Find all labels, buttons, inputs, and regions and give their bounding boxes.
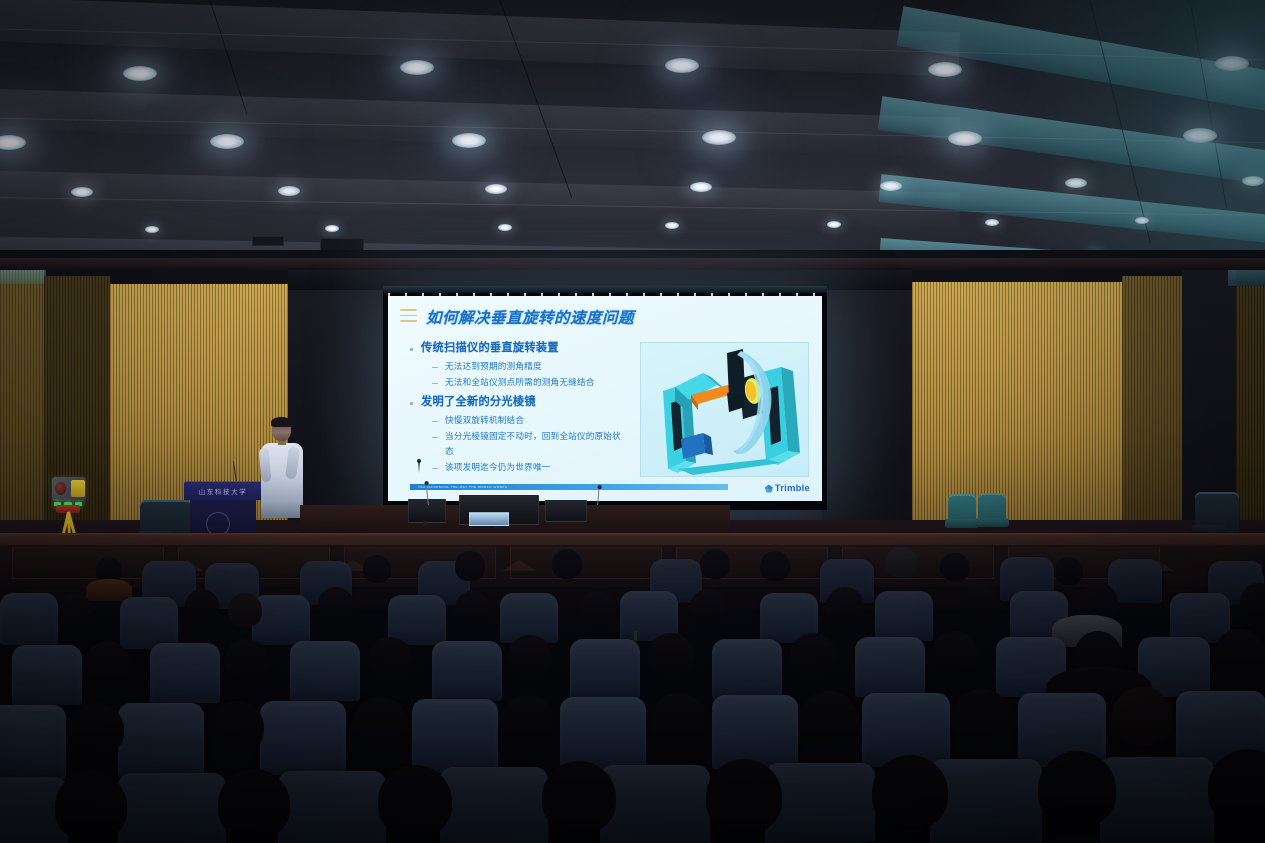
slide-title: 如何解决垂直旋转的速度问题 xyxy=(426,306,634,328)
ceiling-light xyxy=(145,226,159,233)
podium-top: 山东科技大学 xyxy=(184,481,262,500)
bullet-dash-icon xyxy=(432,367,438,368)
bullet-level2: 无法和全站仪测点所需的测角无缝结合 xyxy=(432,375,625,390)
ceiling-light xyxy=(325,225,339,232)
stage-sofa-right[interactable] xyxy=(1195,492,1239,534)
ceiling-light xyxy=(485,184,507,194)
stage-armchair[interactable] xyxy=(948,494,976,528)
wall-cornice xyxy=(0,258,1265,270)
ceiling-light xyxy=(880,181,902,191)
monitor-stand xyxy=(423,521,427,526)
ceiling-light xyxy=(1183,128,1217,143)
desk-monitor-2[interactable] xyxy=(545,500,587,522)
presenter-hair xyxy=(271,417,292,427)
projection-screen[interactable]: 如何解决垂直旋转的速度问题 传统扫描仪的垂直旋转装置 无法达到预期的测角精度 无… xyxy=(383,286,827,510)
slide-bullet-list: 传统扫描仪的垂直旋转装置 无法达到预期的测角精度 无法和全站仪测点所需的测角无缝… xyxy=(410,340,625,476)
slide-tagline: TRANSFORMING THE WAY THE WORLD WORKS xyxy=(418,485,508,489)
audience-shadow-overlay xyxy=(0,545,1265,843)
trimble-mark-icon xyxy=(765,485,773,493)
bullet-level1: 发明了全新的分光棱镜 xyxy=(410,394,625,411)
presentation-laptop[interactable] xyxy=(469,512,509,526)
bullet-subtext: 快慢双旋转机制结合 xyxy=(445,413,524,428)
trimble-logo: Trimble xyxy=(765,483,810,494)
ceiling-light xyxy=(1242,176,1264,186)
bullet-level2: 该项发明迄今仍为世界唯一 xyxy=(432,460,625,475)
bullet-dot-icon xyxy=(410,402,413,405)
menu-lines-icon xyxy=(400,309,417,326)
bullet-text: 传统扫描仪的垂直旋转装置 xyxy=(421,340,559,357)
ceiling-light xyxy=(452,133,486,148)
bullet-dot-icon xyxy=(410,348,413,351)
bullet-level1: 传统扫描仪的垂直旋转装置 xyxy=(410,340,625,357)
ceiling-beam xyxy=(0,0,960,77)
bullet-level2: 无法达到预期的测角精度 xyxy=(432,359,625,374)
ceiling-light xyxy=(928,62,962,77)
ceiling-light xyxy=(210,134,244,149)
presenter xyxy=(258,418,306,518)
ceiling-light xyxy=(690,182,712,192)
trimble-wordmark: Trimble xyxy=(775,483,810,494)
ceiling-light xyxy=(948,131,982,146)
bullet-dash-icon xyxy=(432,468,438,469)
ceiling-vent xyxy=(252,236,284,246)
ceiling-light xyxy=(665,58,699,73)
bullet-subtext: 无法达到预期的测角精度 xyxy=(445,359,542,374)
ceiling-light xyxy=(123,66,157,81)
auditorium-scene: 如何解决垂直旋转的速度问题 传统扫描仪的垂直旋转装置 无法达到预期的测角精度 无… xyxy=(0,0,1265,843)
ceiling-light xyxy=(985,219,999,226)
prism-mechanism-figure xyxy=(640,342,809,477)
ceiling-light xyxy=(665,222,679,229)
scanner-yellow-panel xyxy=(71,480,85,497)
ceiling-beam xyxy=(0,88,960,158)
prism-diagram-svg xyxy=(641,343,808,476)
ceiling-light xyxy=(278,186,300,196)
presentation-slide[interactable]: 如何解决垂直旋转的速度问题 传统扫描仪的垂直旋转装置 无法达到预期的测角精度 无… xyxy=(388,296,822,501)
bullet-text: 发明了全新的分光棱镜 xyxy=(421,394,536,411)
screen-top-rail xyxy=(383,286,827,293)
scanner-lens-icon xyxy=(55,482,66,495)
ceiling-light xyxy=(1065,178,1087,188)
bullet-subtext: 该项发明迄今仍为世界唯一 xyxy=(445,460,551,475)
ceiling-light xyxy=(498,224,512,231)
audience-area xyxy=(0,545,1265,843)
bullet-dash-icon xyxy=(432,437,438,438)
ceiling-light xyxy=(71,187,93,197)
podium-label: 山东科技大学 xyxy=(184,486,262,496)
ceiling-light xyxy=(1215,56,1249,71)
bullet-subtext: 无法和全站仪测点所需的测角无缝结合 xyxy=(445,375,595,390)
ceiling-light xyxy=(827,221,841,228)
microphone-base xyxy=(592,505,604,508)
stage-armchair[interactable] xyxy=(978,493,1006,527)
ceiling-light xyxy=(1135,217,1149,224)
microphone-base xyxy=(423,505,435,508)
bullet-dash-icon xyxy=(432,383,438,384)
laser-pointer-dot-icon xyxy=(418,461,420,473)
bullet-level2: 快慢双旋转机制结合 xyxy=(432,413,625,428)
ceiling-light xyxy=(702,130,736,145)
ceiling-light xyxy=(400,60,434,75)
ceiling-light xyxy=(0,135,26,150)
bullet-dash-icon xyxy=(432,421,438,422)
bullet-level2: 当分光棱镜固定不动时，回到全站仪的原始状态 xyxy=(432,429,625,459)
bullet-subtext: 当分光棱镜固定不动时，回到全站仪的原始状态 xyxy=(445,429,625,459)
